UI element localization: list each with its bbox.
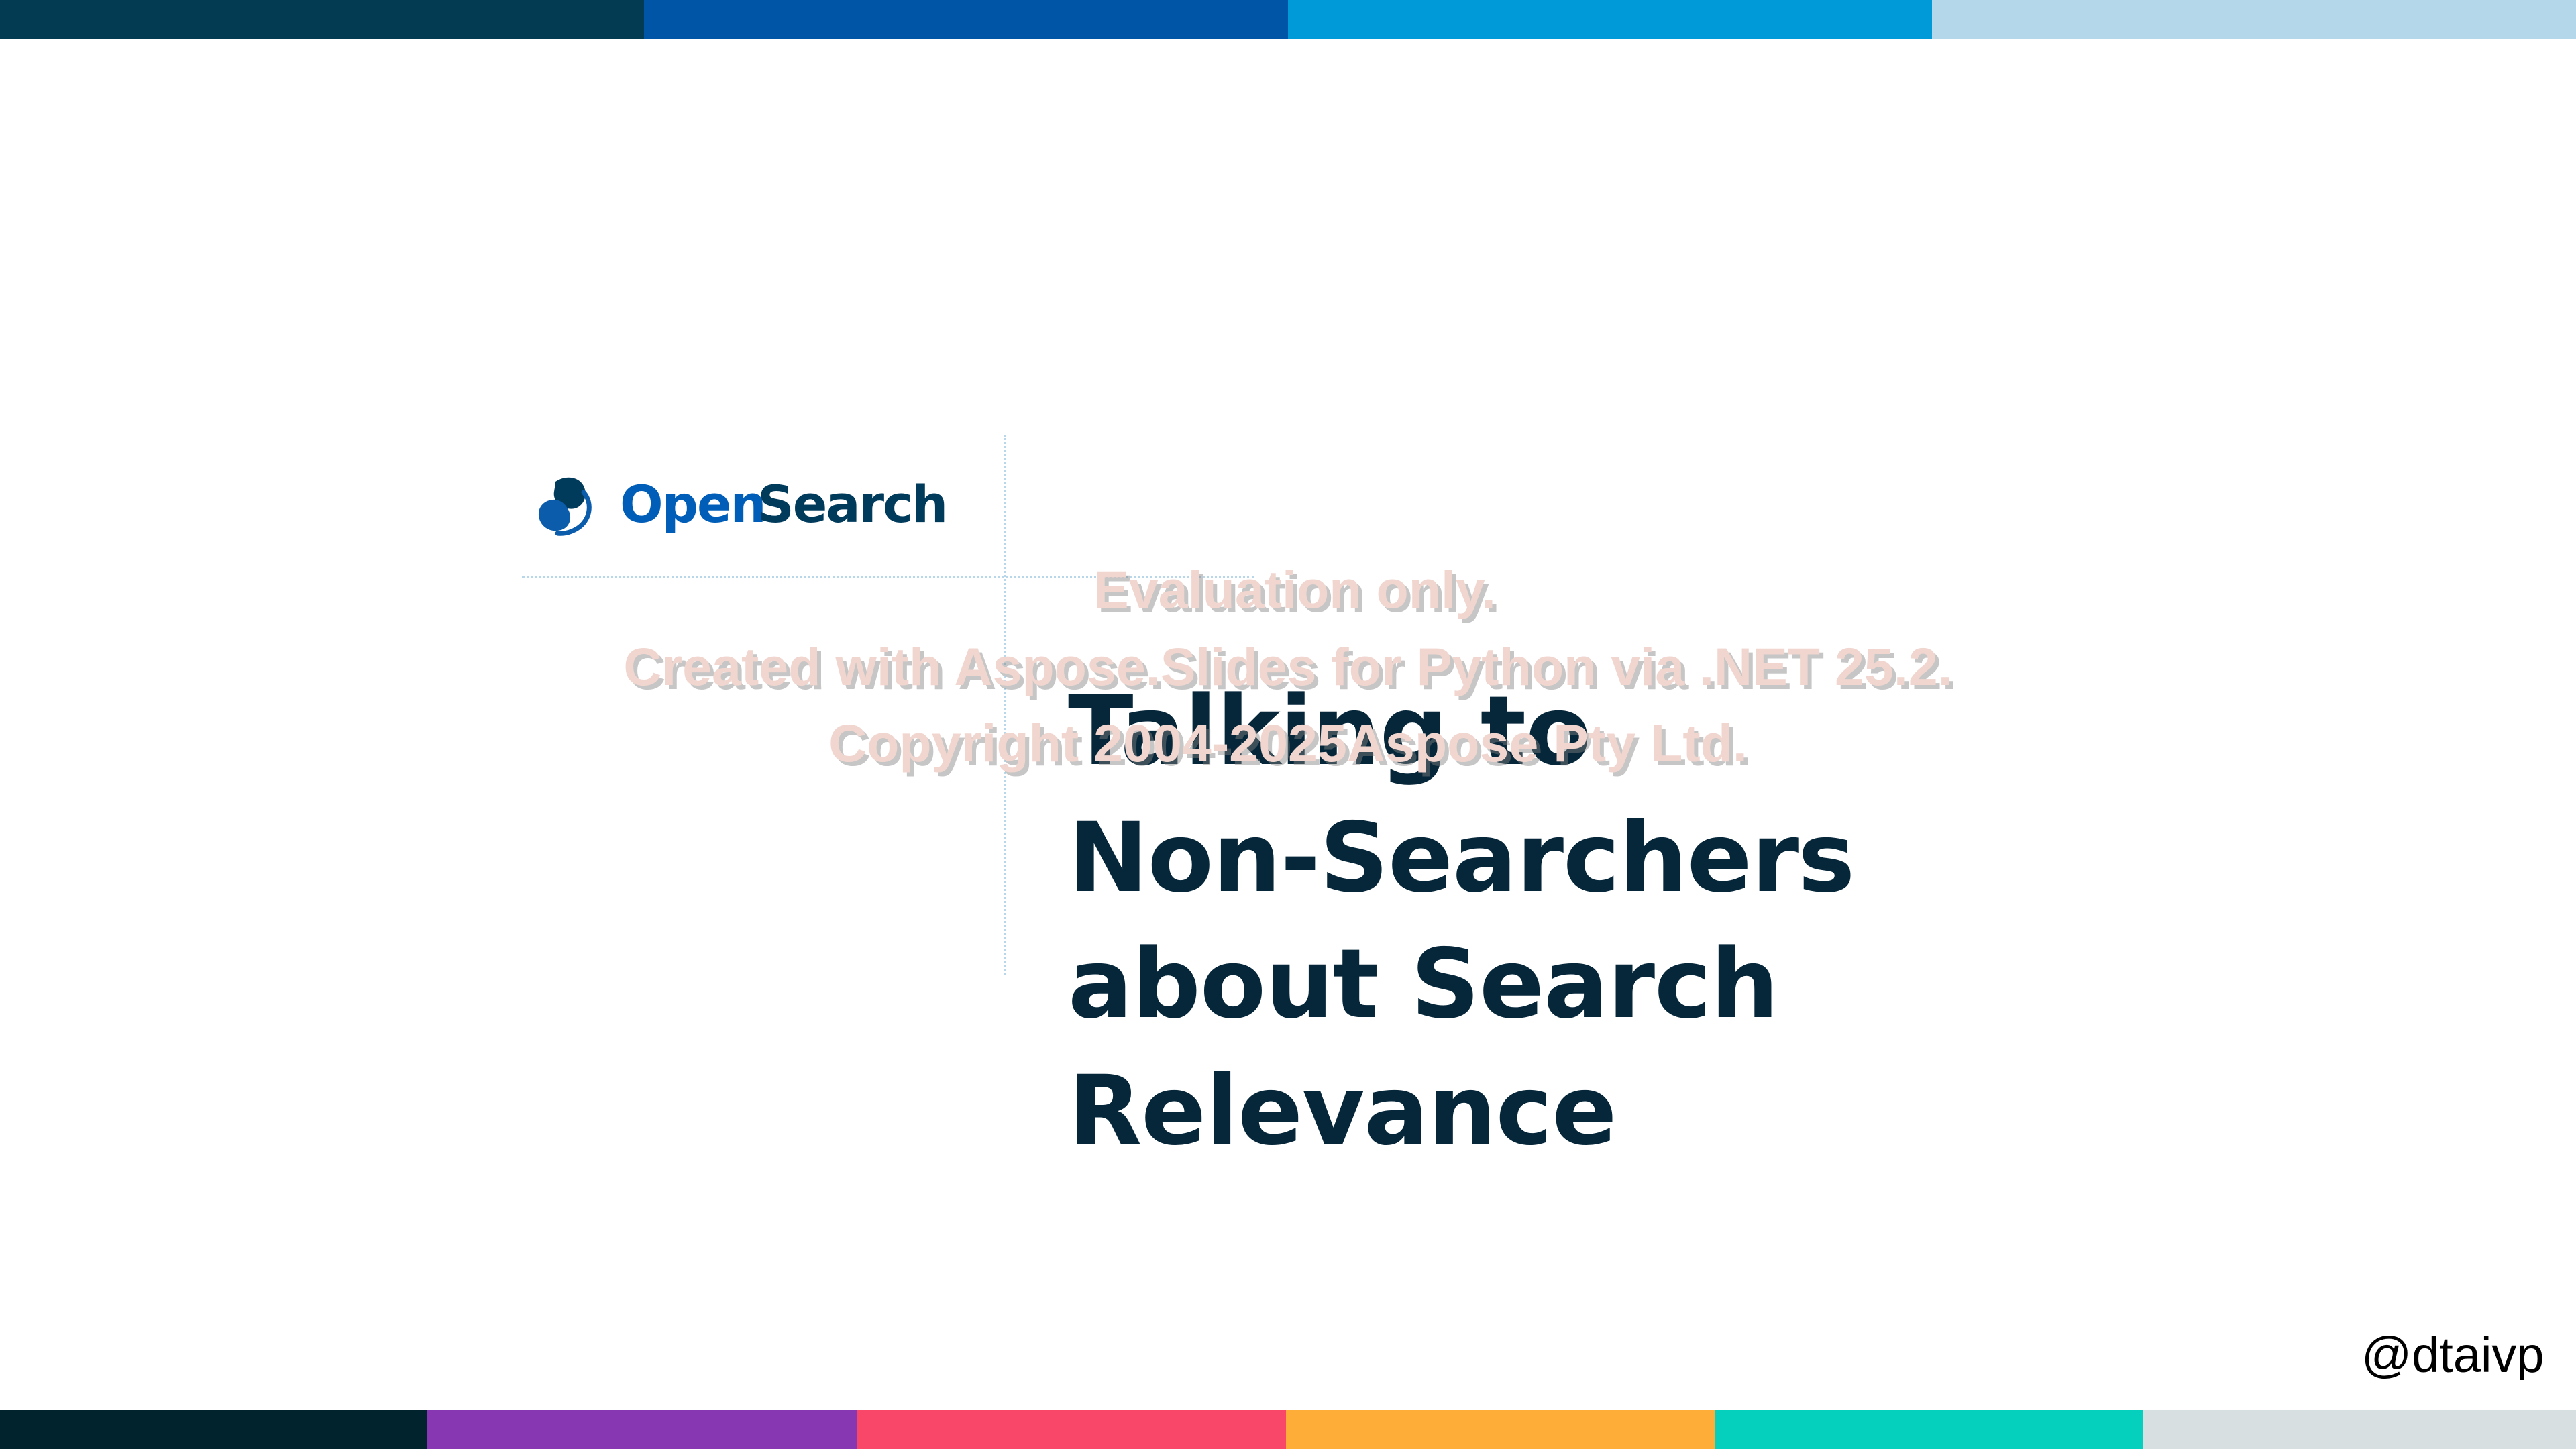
svg-text:Search: Search bbox=[757, 474, 947, 534]
bottom-bar-segment-pink bbox=[857, 1410, 1286, 1449]
presentation-slide: Open Search Talking to Non-Searchers abo… bbox=[0, 0, 2576, 1449]
top-color-bar bbox=[0, 0, 2576, 39]
vertical-guide-line bbox=[1004, 435, 1006, 975]
watermark-line-1: Evaluation only. bbox=[0, 551, 2576, 629]
social-handle: @dtaivp bbox=[2361, 1330, 2576, 1380]
bottom-bar-segment-navy bbox=[0, 1410, 427, 1449]
opensearch-logo-icon: Open Search bbox=[526, 470, 969, 542]
top-bar-segment-blue bbox=[644, 0, 1288, 39]
bottom-bar-segment-teal bbox=[1715, 1410, 2143, 1449]
horizontal-guide-line bbox=[522, 576, 1254, 578]
title-line-4: Relevance bbox=[1068, 1048, 2329, 1175]
top-bar-segment-navy bbox=[0, 0, 644, 39]
title-line-1: Talking to bbox=[1068, 668, 2329, 795]
bottom-color-bar bbox=[0, 1410, 2576, 1449]
top-bar-segment-light-blue bbox=[1932, 0, 2576, 39]
page-title: Talking to Non-Searchers about Search Re… bbox=[1068, 668, 2329, 1175]
bottom-bar-segment-orange bbox=[1286, 1410, 1715, 1449]
title-line-2: Non-Searchers bbox=[1068, 795, 2329, 922]
svg-text:Open: Open bbox=[620, 474, 765, 534]
bottom-bar-segment-purple bbox=[427, 1410, 857, 1449]
bottom-bar-segment-grey bbox=[2143, 1410, 2576, 1449]
opensearch-logo: Open Search bbox=[526, 470, 969, 542]
title-line-3: about Search bbox=[1068, 921, 2329, 1048]
top-bar-segment-cyan bbox=[1288, 0, 1932, 39]
